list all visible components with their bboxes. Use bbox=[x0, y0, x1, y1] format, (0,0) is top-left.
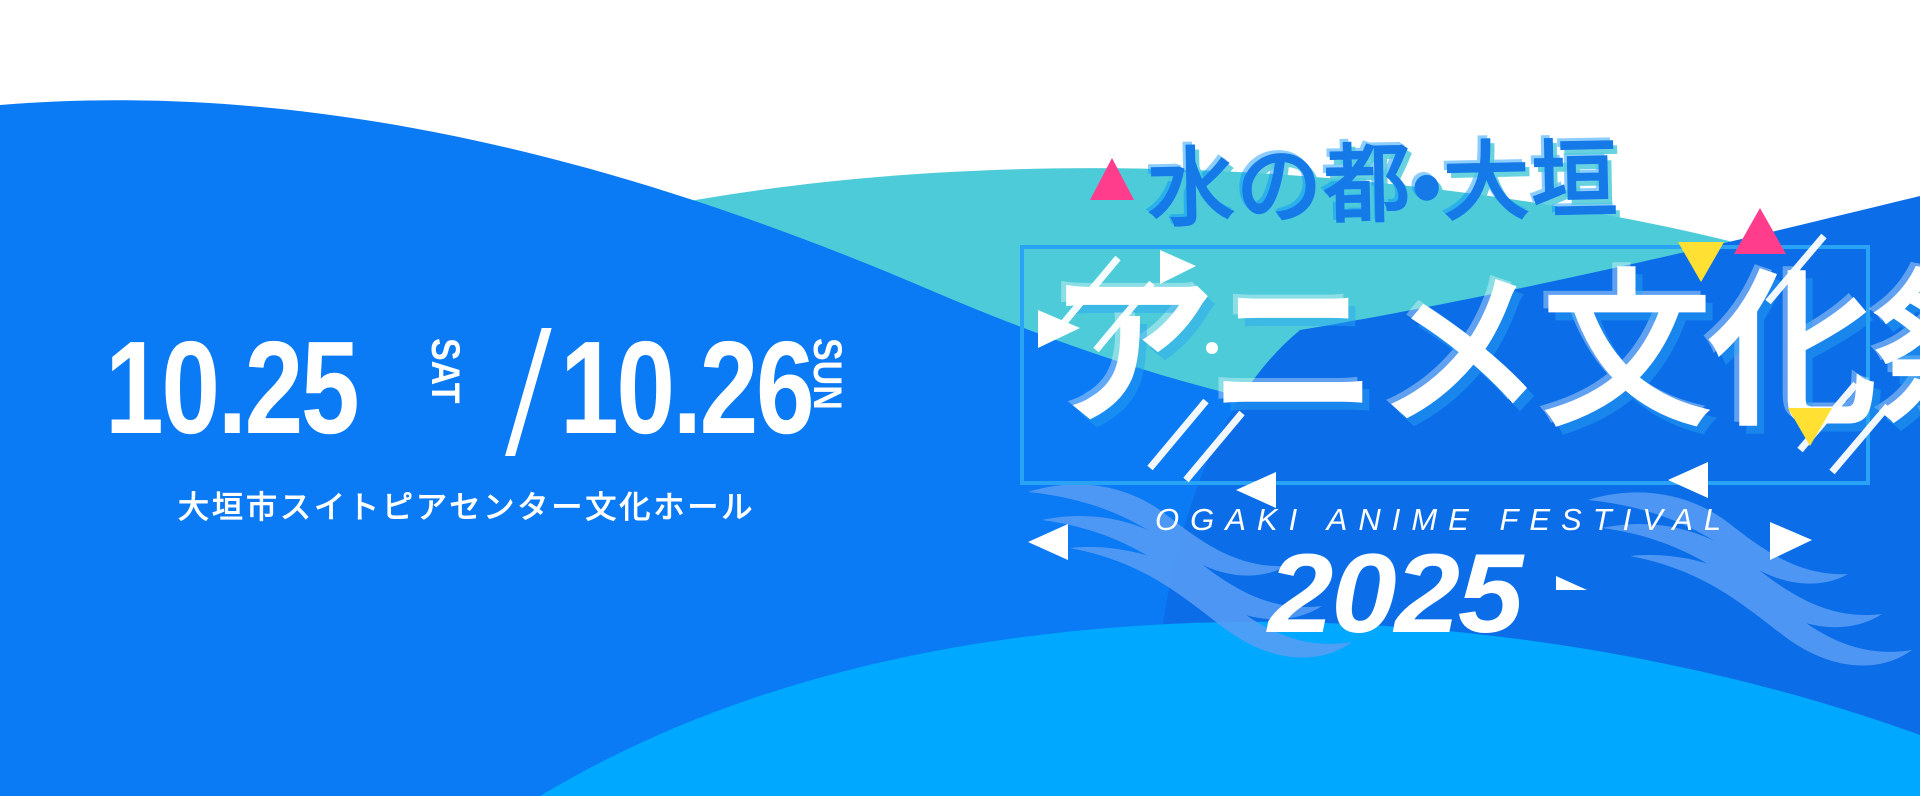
festival-logo: 水の都・大垣 アニメ文化祭 OGAKI ANIME FESTIVAL 2025 bbox=[1000, 150, 1900, 590]
white-triangle-g-icon bbox=[1556, 576, 1596, 590]
date-separator bbox=[505, 328, 552, 456]
date-row: 10.25 SAT 10.26 SUN bbox=[105, 330, 905, 470]
weekday-secondary: SUN bbox=[807, 338, 847, 410]
venue-label: 大垣市スイトピアセンター文化ホール bbox=[178, 482, 755, 527]
white-triangle-c-icon bbox=[1028, 524, 1068, 560]
date-secondary: 10.26 bbox=[560, 322, 812, 454]
date-primary: 10.25 bbox=[105, 322, 357, 454]
event-date-block: 10.25 SAT 10.26 SUN 大垣市スイトピアセンター文化ホール bbox=[105, 330, 905, 560]
yellow-triangle-top-icon bbox=[1678, 242, 1724, 282]
pink-triangle-right-icon bbox=[1734, 208, 1786, 254]
weekday-primary: SAT bbox=[425, 338, 465, 403]
festival-banner: 10.25 SAT 10.26 SUN 大垣市スイトピアセンター文化ホール bbox=[0, 0, 1920, 796]
yellow-triangle-mid-icon bbox=[1788, 408, 1832, 446]
white-triangle-a-icon bbox=[1038, 310, 1080, 348]
white-triangle-f-icon bbox=[1770, 522, 1812, 560]
pink-triangle-left-icon bbox=[1090, 158, 1134, 200]
white-triangle-d-icon bbox=[1236, 472, 1276, 508]
white-triangle-e-icon bbox=[1668, 462, 1708, 498]
white-triangle-b-icon bbox=[1160, 250, 1196, 284]
logo-decoration-triangles bbox=[1000, 150, 1900, 590]
